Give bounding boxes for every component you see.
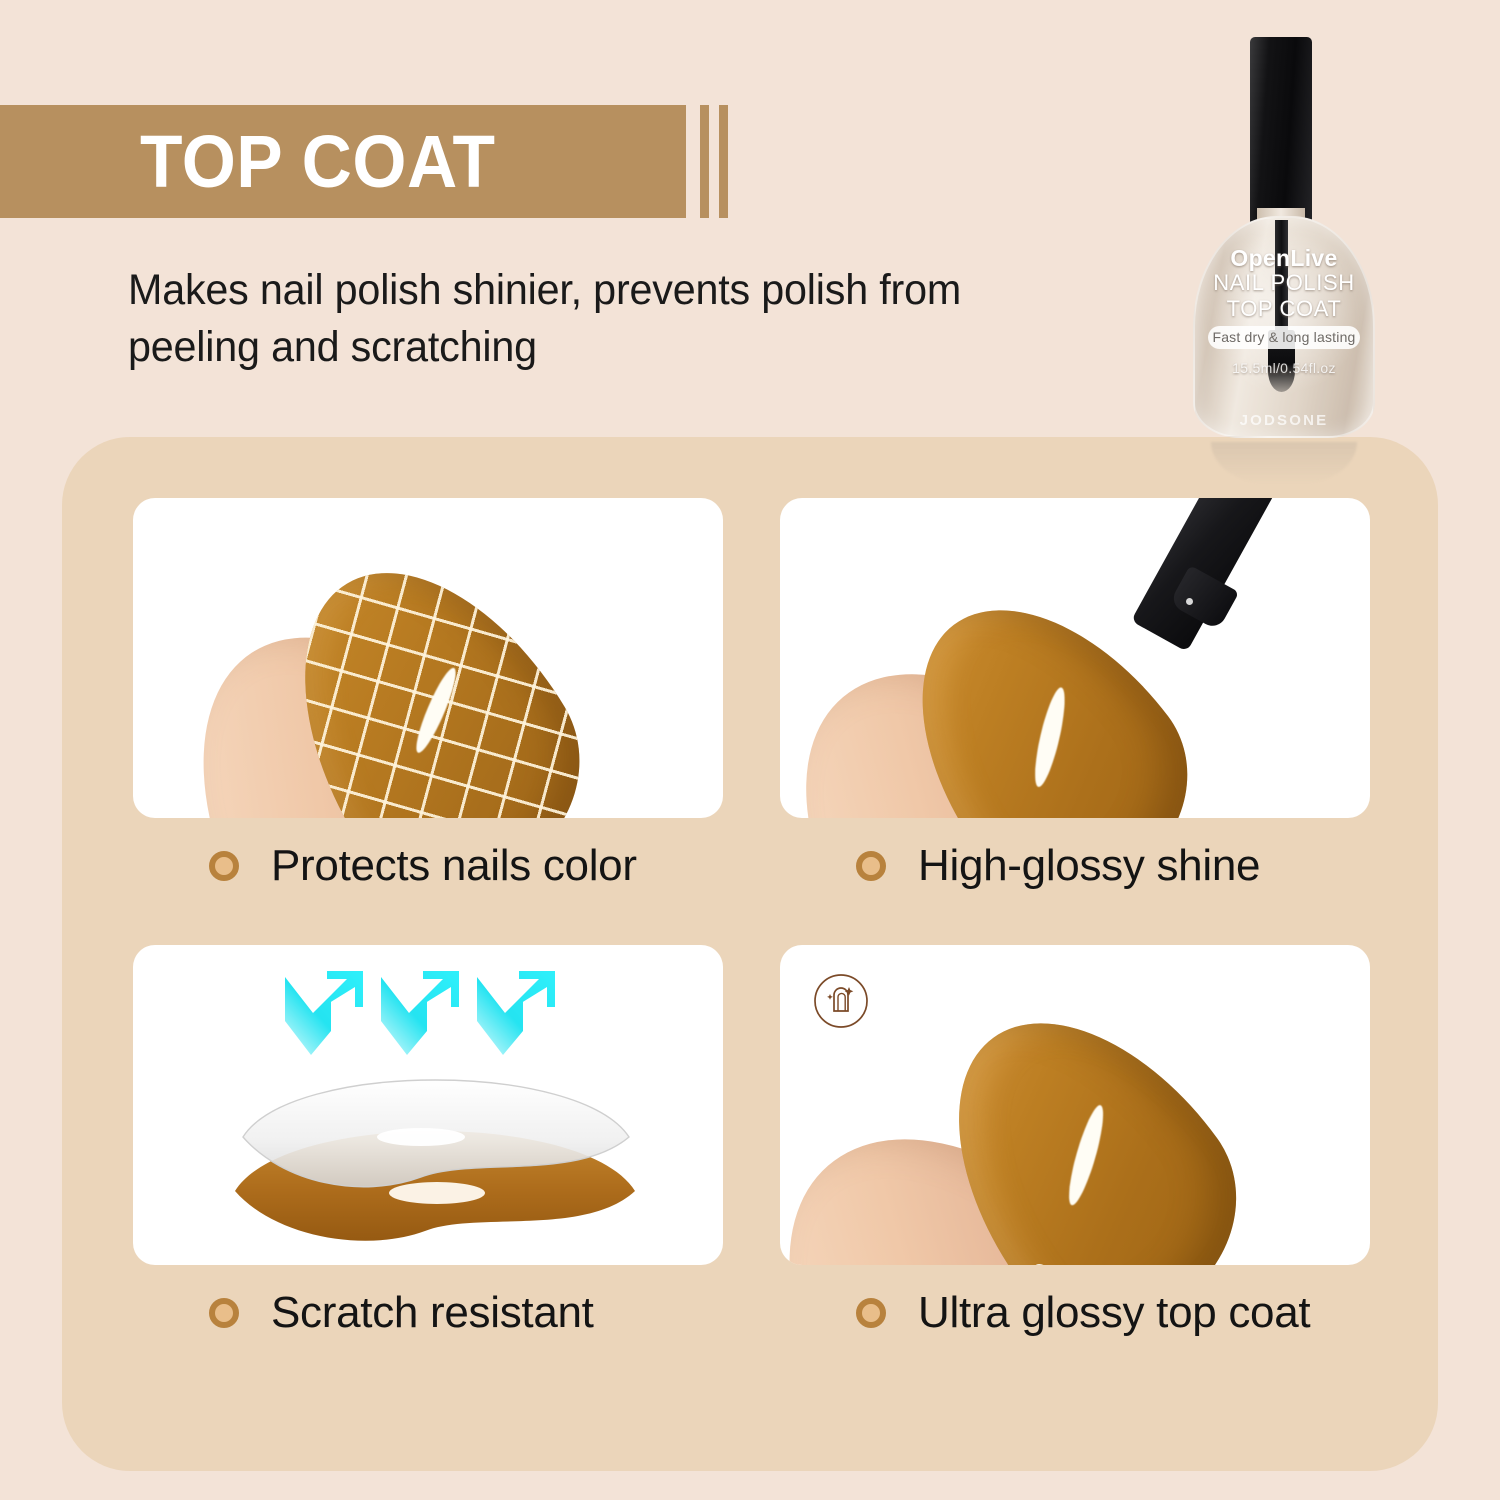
- nail-gloss-highlight: [1029, 685, 1070, 789]
- header-accent-bar-2: [719, 105, 728, 218]
- bottle-reflection: [1211, 442, 1357, 484]
- feature-image-protects-nails-color: [133, 498, 723, 818]
- bottle-cap: [1250, 37, 1312, 224]
- bottle-tagline: Fast dry & long lasting: [1208, 326, 1360, 349]
- feature-caption: Scratch resistant: [271, 1288, 594, 1338]
- bottle-base-embossed: JODSONE: [1193, 412, 1375, 429]
- feature-grid: Protects nails color High-glossy shine: [133, 498, 1370, 1361]
- page-title: TOP COAT: [140, 119, 495, 204]
- bullet-ring-icon: [856, 851, 886, 881]
- bottle-product-line-2: TOP COAT: [1193, 296, 1375, 322]
- feature-caption: Protects nails color: [271, 841, 637, 891]
- feature-image-high-glossy-shine: [780, 498, 1370, 818]
- feature-item-protects-nails-color: Protects nails color: [133, 498, 723, 914]
- feature-caption: High-glossy shine: [918, 841, 1260, 891]
- feature-caption-row: High-glossy shine: [780, 818, 1370, 914]
- bottle-brand: OpenLive: [1193, 246, 1375, 270]
- header-banner: TOP COAT: [0, 105, 686, 218]
- brush-vent-hole: [1186, 598, 1193, 605]
- bullet-ring-icon: [856, 1298, 886, 1328]
- feature-item-scratch-resistant: Scratch resistant: [133, 945, 723, 1361]
- bottle-product-line-1: NAIL POLISH: [1193, 270, 1375, 296]
- bottle-label: OpenLive NAIL POLISH TOP COAT Fast dry &…: [1193, 246, 1375, 376]
- feature-image-ultra-glossy-top-coat: [780, 945, 1370, 1265]
- nail-gloss-dot: [1033, 1262, 1055, 1265]
- feature-item-ultra-glossy-top-coat: Ultra glossy top coat: [780, 945, 1370, 1361]
- feature-item-high-glossy-shine: High-glossy shine: [780, 498, 1370, 914]
- page-subtitle: Makes nail polish shinier, prevents poli…: [128, 262, 1074, 376]
- bottle-volume: 15.5ml/0.54fl.oz: [1193, 360, 1375, 376]
- bullet-ring-icon: [209, 851, 239, 881]
- feature-caption-row: Ultra glossy top coat: [780, 1265, 1370, 1361]
- feature-caption: Ultra glossy top coat: [918, 1288, 1310, 1338]
- feature-caption-row: Protects nails color: [133, 818, 723, 914]
- shiny-nail-badge-icon: [813, 973, 869, 1029]
- product-bottle: OpenLive NAIL POLISH TOP COAT Fast dry &…: [1185, 20, 1425, 500]
- coat-layers-illustration: [225, 1041, 645, 1261]
- header-accent-bar-1: [700, 105, 709, 218]
- bullet-ring-icon: [209, 1298, 239, 1328]
- feature-caption-row: Scratch resistant: [133, 1265, 723, 1361]
- nail-gloss-highlight: [1063, 1103, 1110, 1208]
- feature-image-scratch-resistant: [133, 945, 723, 1265]
